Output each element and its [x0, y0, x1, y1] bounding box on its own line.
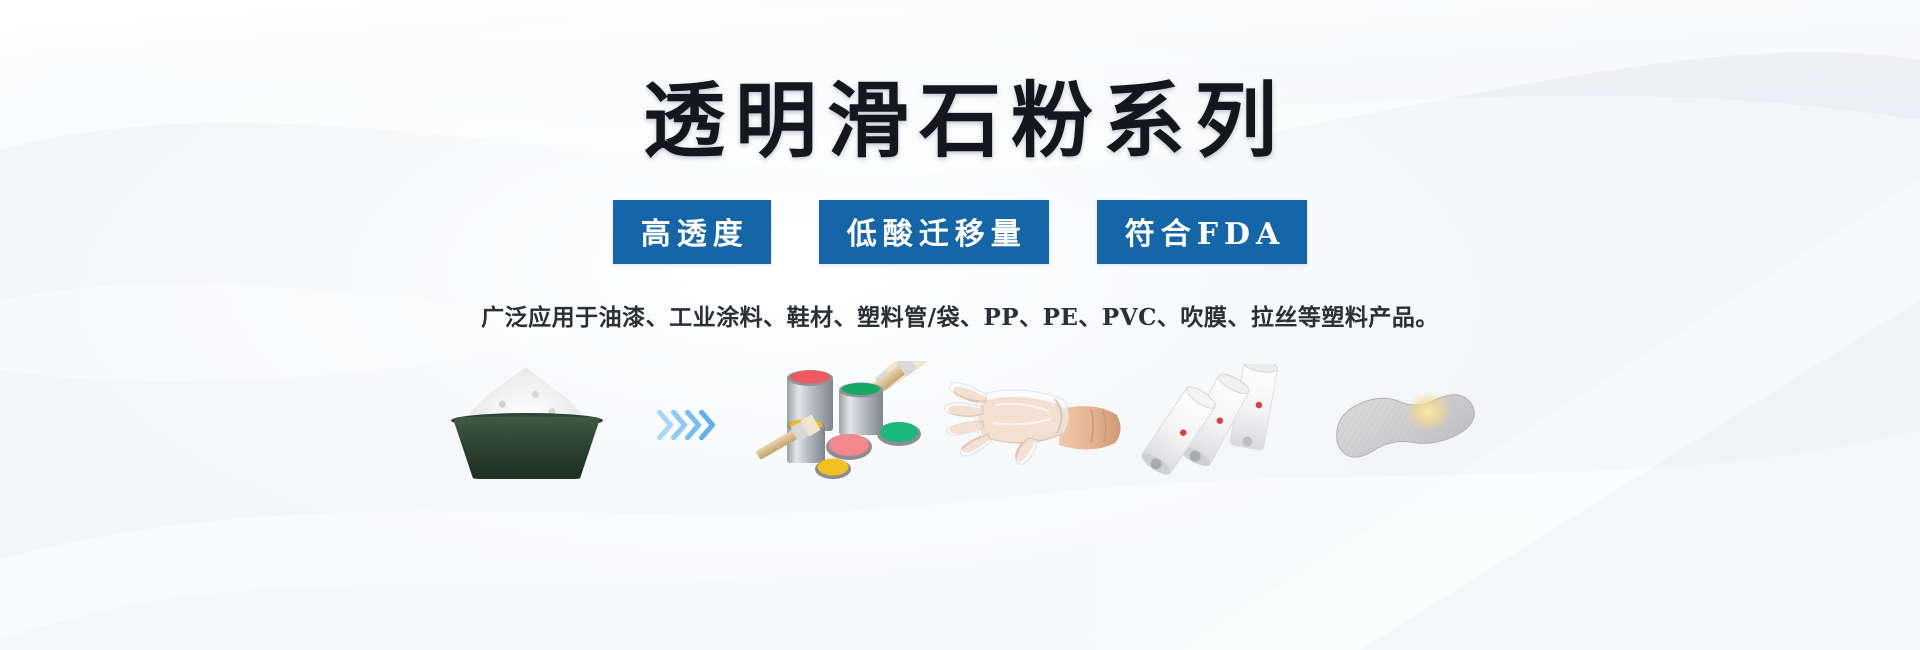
- talc-powder-bowl-image: [423, 365, 633, 485]
- page-title: 透明滑石粉系列: [633, 78, 1287, 164]
- shoe-sole-illustration: [1313, 370, 1498, 480]
- process-arrow-icons: [633, 365, 743, 485]
- chevron-right-icon: [699, 410, 716, 440]
- plastic-film-rolls-image: [1133, 364, 1313, 486]
- feature-badge-list: 高透度 低酸迁移量 符合FDA: [613, 200, 1308, 264]
- banner-content: 透明滑石粉系列 高透度 低酸迁移量 符合FDA 广泛应用于油漆、工业涂料、鞋材、…: [0, 0, 1920, 650]
- badge-high-transparency[interactable]: 高透度: [613, 200, 771, 264]
- product-banner: 透明滑石粉系列 高透度 低酸迁移量 符合FDA 广泛应用于油漆、工业涂料、鞋材、…: [0, 0, 1920, 650]
- paint-cans-illustration: [743, 361, 943, 489]
- green-bowl: [453, 417, 601, 479]
- plastic-glove-illustration: [943, 365, 1133, 485]
- shoe-sole-image: [1313, 370, 1498, 480]
- badge-low-acid-migration[interactable]: 低酸迁移量: [819, 200, 1049, 264]
- paint-cans-image: [743, 361, 943, 489]
- plastic-glove-image: [943, 365, 1133, 485]
- application-description: 广泛应用于油漆、工业涂料、鞋材、塑料管/袋、PP、PE、PVC、吹膜、拉丝等塑料…: [481, 298, 1439, 332]
- application-imagery-strip: [310, 350, 1610, 500]
- film-rolls-illustration: [1133, 364, 1313, 486]
- badge-fda-compliant[interactable]: 符合FDA: [1097, 200, 1308, 264]
